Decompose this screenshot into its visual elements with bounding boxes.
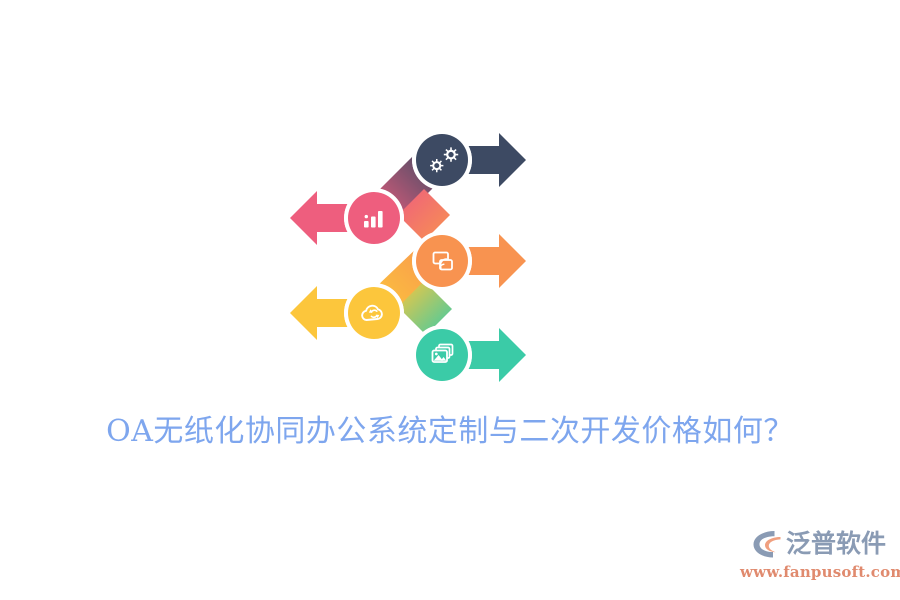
- infographic-diagram: [270, 115, 550, 395]
- brand-url: www.fanpusoft.com: [740, 563, 886, 581]
- brand-logo-row: 泛普软件: [740, 526, 886, 562]
- step-3-node[interactable]: [412, 231, 472, 291]
- page-title: OA无纸化协同办公系统定制与二次开发价格如何？: [0, 412, 900, 452]
- step-2-node[interactable]: [344, 188, 404, 248]
- fanpu-logo-icon: [750, 528, 784, 560]
- step-4-node[interactable]: [344, 283, 404, 343]
- brand-watermark: 泛普软件 www.fanpusoft.com: [740, 526, 886, 588]
- brand-name: 泛普软件: [786, 529, 886, 559]
- step-5-node[interactable]: [412, 325, 472, 385]
- step-1-node[interactable]: [412, 130, 472, 190]
- page-canvas: OA无纸化协同办公系统定制与二次开发价格如何？ 泛普软件 www.fanpuso…: [0, 0, 900, 600]
